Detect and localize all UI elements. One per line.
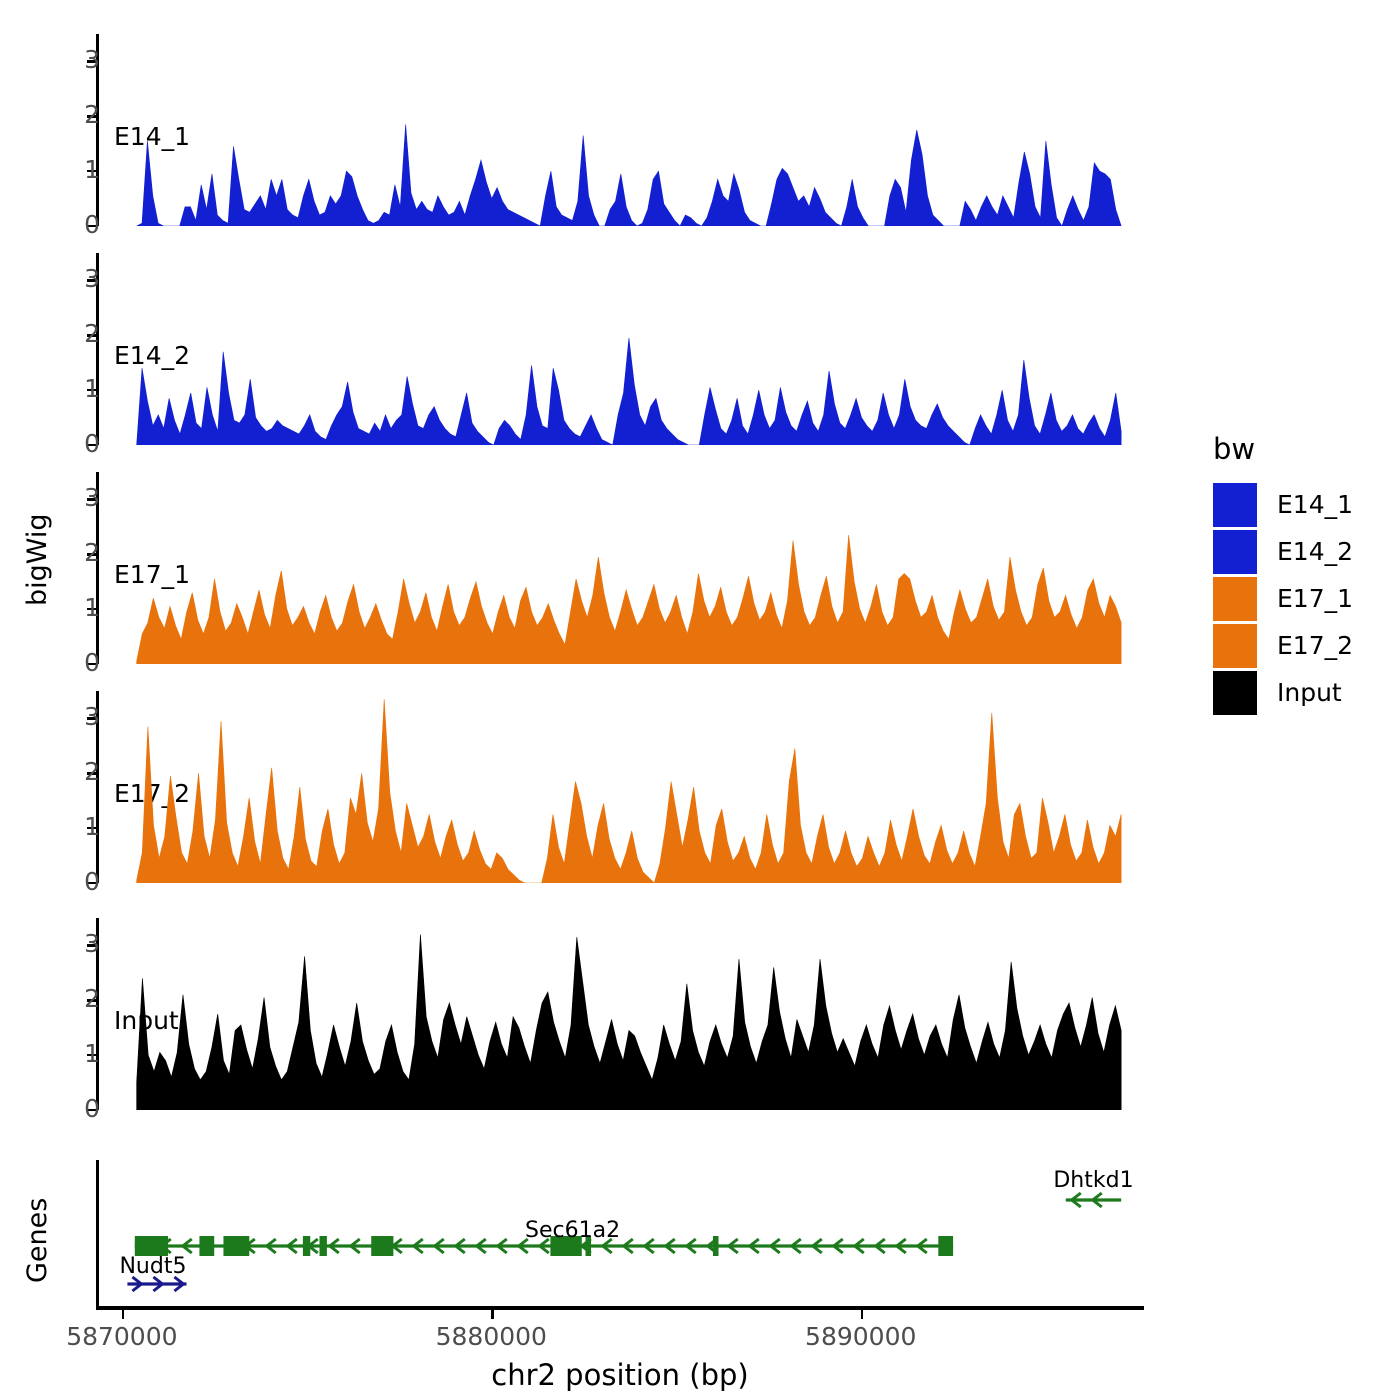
y-tick-label: 0 [60, 1096, 100, 1121]
y-tick-label: 3 [60, 704, 100, 729]
legend-item-e17_2[interactable]: E17_2 [1213, 623, 1393, 668]
gene-label-nudt5: Nudt5 [119, 1254, 186, 1279]
gene-nudt5[interactable] [127, 1277, 186, 1291]
legend-item-e14_2[interactable]: E14_2 [1213, 529, 1393, 574]
y-tick-label: 1 [60, 376, 100, 401]
trace-e17_1 [96, 472, 1144, 664]
y-tick-label: 0 [60, 869, 100, 894]
y-tick-label: 2 [60, 986, 100, 1011]
y-tick-label: 3 [60, 266, 100, 291]
legend-item-label: Input [1277, 678, 1342, 707]
legend-color-key [1213, 577, 1257, 621]
y-tick-label: 2 [60, 540, 100, 565]
y-tick-label: 0 [60, 212, 100, 237]
trace-input [96, 918, 1144, 1110]
track-panel-input: 0123Input [96, 918, 1144, 1110]
track-panel-e17_1: 0123E17_1 [96, 472, 1144, 664]
y-tick-label: 0 [60, 650, 100, 675]
y-tick-label: 2 [60, 759, 100, 784]
x-tick-label: 5890000 [805, 1322, 916, 1351]
y-tick-label: 1 [60, 595, 100, 620]
x-tick-label: 5870000 [66, 1322, 177, 1351]
x-axis-title: chr2 position (bp) [96, 1358, 1144, 1392]
legend-color-key [1213, 671, 1257, 715]
legend-color-key [1213, 483, 1257, 527]
legend-item-e14_1[interactable]: E14_1 [1213, 482, 1393, 527]
gene-label-dhtkd1: Dhtkd1 [1053, 1168, 1133, 1193]
y-tick-label: 1 [60, 157, 100, 182]
trace-e17_2 [96, 691, 1144, 883]
gene-track-panel: Dhtkd1Sec61a2Nudt5 [96, 1160, 1144, 1310]
legend-item-input[interactable]: Input [1213, 670, 1393, 715]
legend-item-label: E17_1 [1277, 584, 1353, 613]
y-tick-label: 0 [60, 431, 100, 456]
y-axis-title-genes: Genes [22, 1180, 56, 1300]
trace-e14_2 [96, 253, 1144, 445]
legend-item-label: E17_2 [1277, 631, 1353, 660]
y-tick-label: 3 [60, 931, 100, 956]
trace-e14_1 [96, 34, 1144, 226]
gene-dhtkd1[interactable] [1066, 1193, 1121, 1207]
y-axis-title-bigwig: bigWig [22, 470, 56, 650]
x-tick-label: 5880000 [436, 1322, 547, 1351]
x-tick [122, 1306, 125, 1319]
y-tick-label: 3 [60, 485, 100, 510]
x-tick [861, 1306, 864, 1319]
track-panel-e17_2: 0123E17_2 [96, 691, 1144, 883]
y-tick-label: 1 [60, 1041, 100, 1066]
gene-label-sec61a2: Sec61a2 [525, 1218, 620, 1243]
legend-color-key [1213, 530, 1257, 574]
legend-title: bw [1213, 432, 1393, 466]
x-axis-line [96, 1306, 1144, 1310]
y-tick-label: 3 [60, 47, 100, 72]
legend-item-label: E14_1 [1277, 490, 1353, 519]
y-tick-label: 2 [60, 321, 100, 346]
track-panel-e14_2: 0123E14_2 [96, 253, 1144, 445]
y-tick-label: 2 [60, 102, 100, 127]
legend-color-key [1213, 624, 1257, 668]
legend-item-label: E14_2 [1277, 537, 1353, 566]
legend-item-e17_1[interactable]: E17_1 [1213, 576, 1393, 621]
track-panel-e14_1: 0123E14_1 [96, 34, 1144, 226]
y-tick-label: 1 [60, 814, 100, 839]
legend: bw E14_1E14_2E17_1E17_2Input [1213, 432, 1393, 717]
x-tick [491, 1306, 494, 1319]
